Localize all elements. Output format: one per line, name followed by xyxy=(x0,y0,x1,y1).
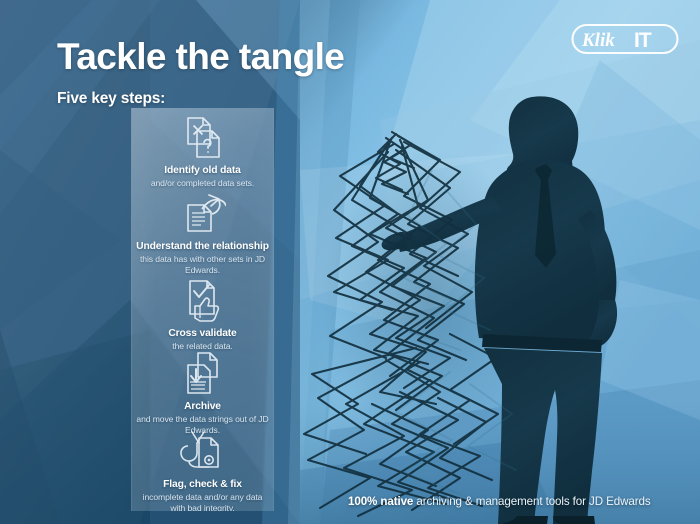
document-archive-download-icon xyxy=(132,348,273,400)
footer-emphasis: 100% native xyxy=(348,495,413,508)
subtitle: Five key steps: xyxy=(57,90,165,108)
page-title: Tackle the tangle xyxy=(57,38,344,75)
document-x-question-icon xyxy=(132,112,273,164)
five-steps-panel: Identify old data and/or completed data … xyxy=(131,108,274,511)
step-item-3: Cross validate the related data. xyxy=(132,275,273,352)
step-desc: and/or completed data sets. xyxy=(132,178,273,189)
step-title: Archive xyxy=(132,401,273,413)
step-title: Identify old data xyxy=(132,165,273,177)
step-item-5: Flag, check & fix incomplete data and/or… xyxy=(132,426,273,511)
step-item-4: Archive and move the data strings out of… xyxy=(132,348,273,435)
document-arrow-relationship-icon xyxy=(132,188,273,240)
photo-area xyxy=(300,0,700,524)
step-item-2: Understand the relationship this data ha… xyxy=(132,188,273,275)
step-title: Flag, check & fix xyxy=(132,479,273,491)
step-item-1: Identify old data and/or completed data … xyxy=(132,112,273,189)
document-wrench-fix-icon xyxy=(132,426,273,478)
footer-tagline: 100% native archiving & management tools… xyxy=(348,495,651,508)
step-title: Cross validate xyxy=(132,328,273,340)
slide-canvas: Tackle the tangle Five key steps: Klik I… xyxy=(0,0,700,524)
klikit-logo[interactable]: Klik IT xyxy=(571,22,679,56)
logo-script-text: Klik xyxy=(581,30,615,51)
footer-rest: archiving & management tools for JD Edwa… xyxy=(413,495,650,508)
document-check-thumbsup-icon xyxy=(132,275,273,327)
logo-bold-text: IT xyxy=(634,29,652,52)
step-desc: incomplete data and/or any data with bad… xyxy=(132,492,273,511)
step-title: Understand the relationship xyxy=(132,241,273,253)
step-desc: this data has with other sets in JD Edwa… xyxy=(132,254,273,275)
